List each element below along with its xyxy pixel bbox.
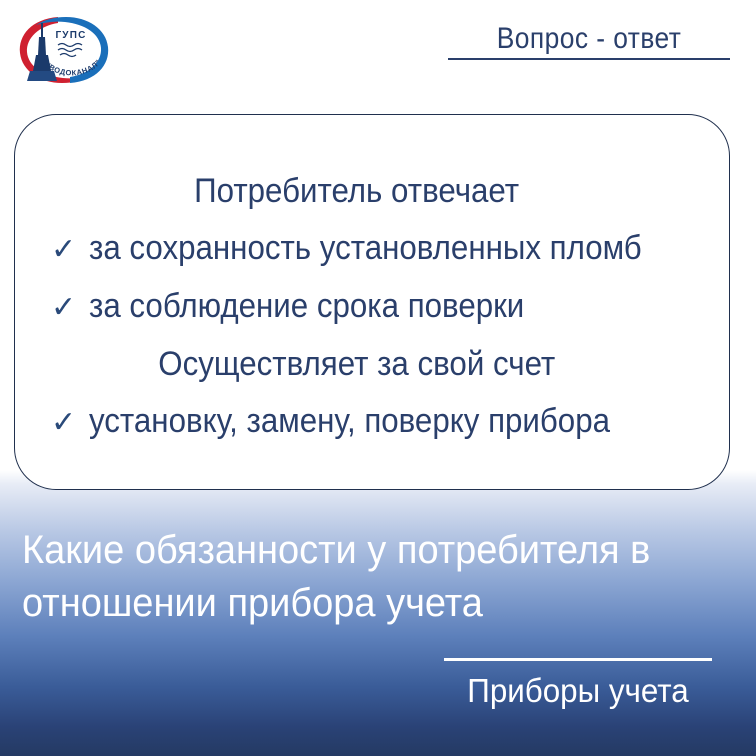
question-line: Какие обязанности у потребителя в [22, 524, 698, 577]
check-icon: ✓ [51, 394, 89, 451]
footer-category-label: Приборы учета [451, 671, 706, 711]
answer-line-text: Осуществляет за свой счет [158, 336, 555, 393]
header-underline [448, 58, 730, 60]
answer-card-content: Потребитель отвечает ✓ за сохранность ус… [15, 115, 729, 451]
page-title: Вопрос - ответ [465, 22, 713, 56]
answer-line-text: за сохранность установленных пломб [89, 220, 642, 277]
answer-line-text: за соблюдение срока поверки [89, 278, 524, 335]
answer-line: ✓ за соблюдение срока поверки [15, 278, 729, 336]
answer-line: Потребитель отвечает [15, 163, 729, 220]
answer-line: ✓ за сохранность установленных пломб [15, 220, 729, 278]
question-line: отношении прибора учета [22, 577, 698, 630]
question-block: Какие обязанности у потребителя в отноше… [22, 524, 734, 630]
footer-divider [444, 658, 712, 661]
svg-text:ГУПС: ГУПС [55, 30, 86, 41]
header-title-block: Вопрос - ответ [448, 22, 730, 60]
answer-line-text: установку, замену, поверку прибора [89, 393, 610, 450]
check-icon: ✓ [51, 221, 89, 278]
answer-line: ✓ установку, замену, поверку прибора [15, 393, 729, 451]
header: ГУПС "ВОДОКАНАЛ" Вопрос - ответ [0, 0, 756, 100]
check-icon: ✓ [51, 279, 89, 336]
footer: Приборы учета [444, 658, 712, 711]
answer-line: Осуществляет за свой счет [15, 336, 729, 393]
answer-line-text: Потребитель отвечает [195, 163, 520, 220]
answer-card: Потребитель отвечает ✓ за сохранность ус… [14, 114, 730, 490]
gups-vodokanal-logo: ГУПС "ВОДОКАНАЛ" [12, 9, 116, 91]
poster-root: ГУПС "ВОДОКАНАЛ" Вопрос - ответ [0, 0, 756, 756]
